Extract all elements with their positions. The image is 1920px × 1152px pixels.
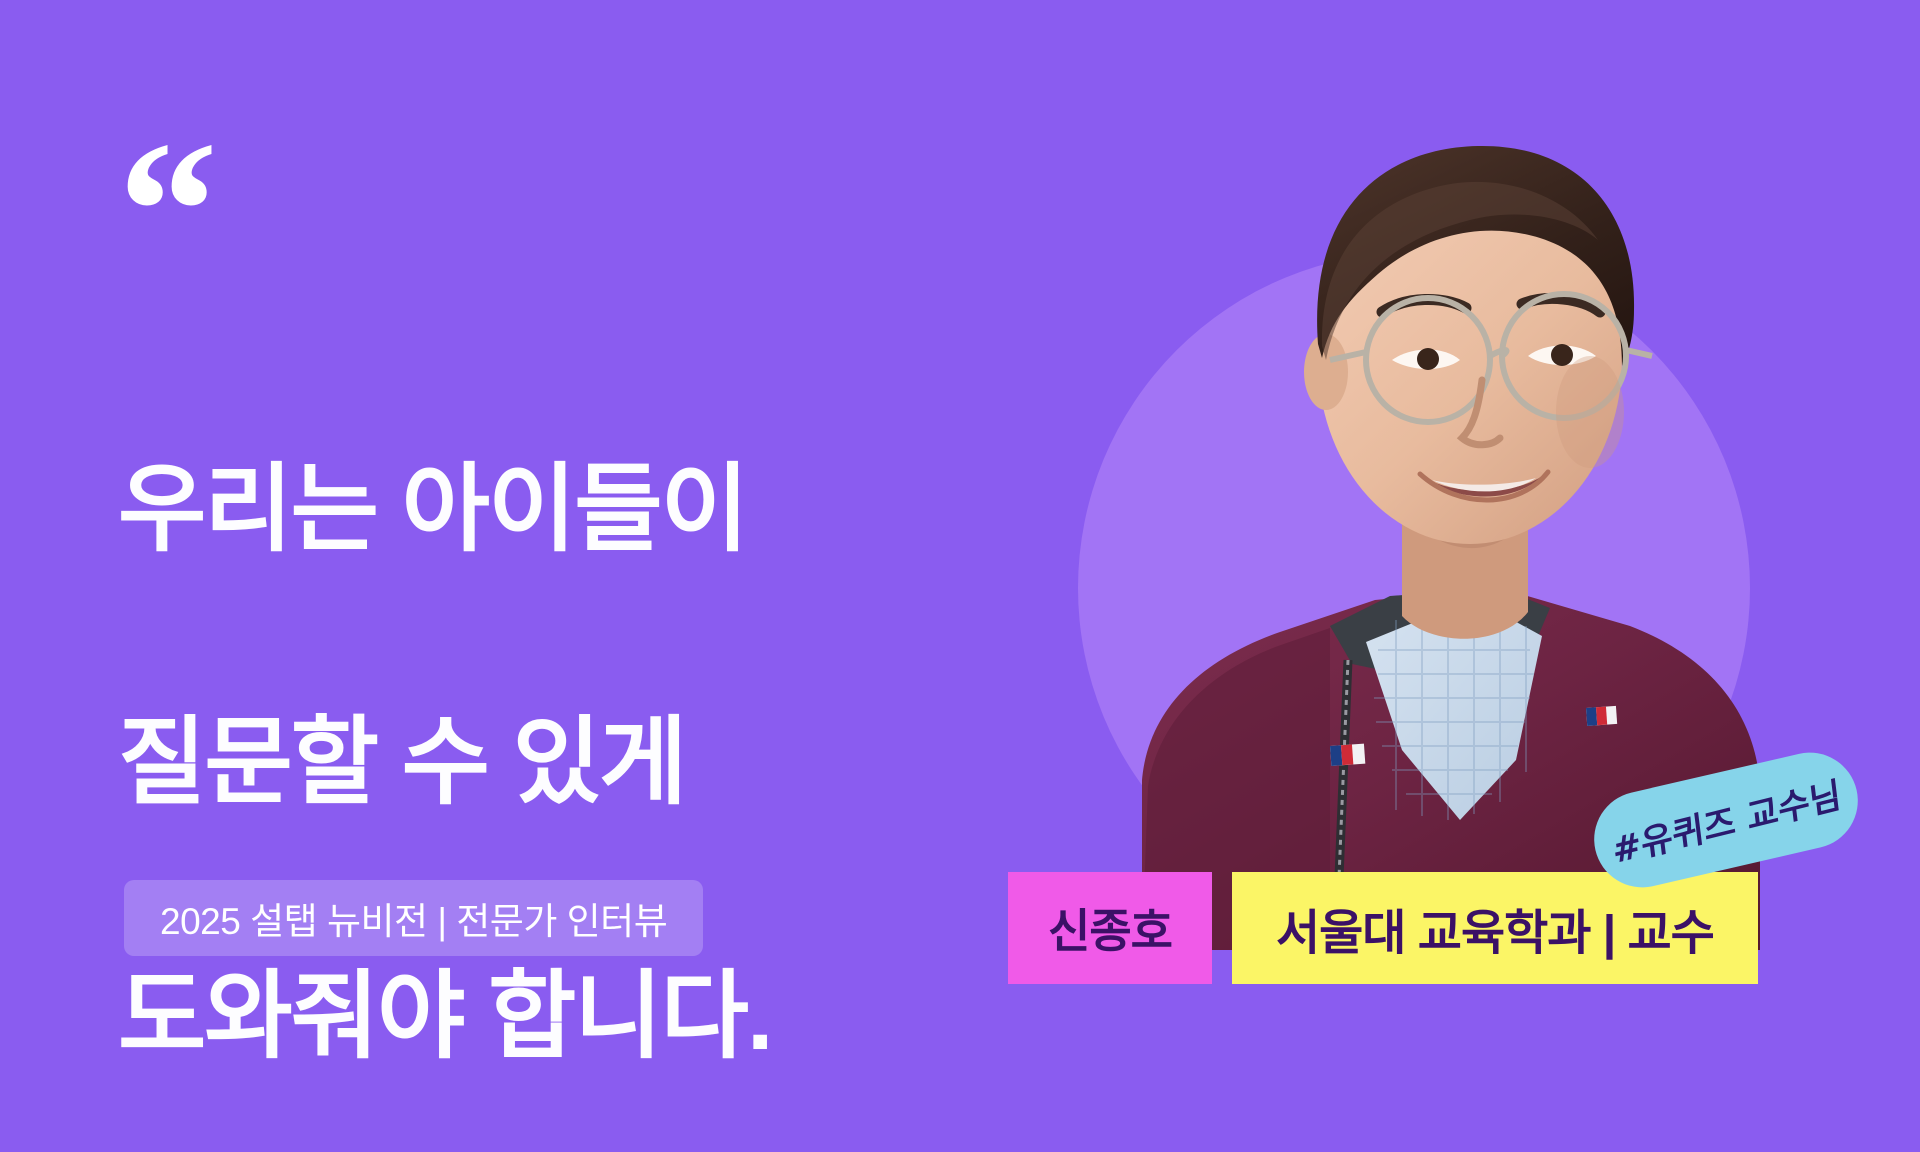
quote-card: “ 우리는 아이들이 질문할 수 있게 도와줘야 합니다. 2025 설탭 뉴비… <box>0 0 1920 1152</box>
quote-line-1: 우리는 아이들이 <box>118 447 938 574</box>
open-quote-icon: “ <box>118 112 212 312</box>
series-subtitle-badge: 2025 설탭 뉴비전 | 전문가 인터뷰 <box>124 880 703 956</box>
speaker-credentials: 신종호 서울대 교육학과 | 교수 <box>1008 872 1758 984</box>
quote-headline: 우리는 아이들이 질문할 수 있게 도와줘야 합니다. <box>118 320 938 1152</box>
speaker-title-badge: 서울대 교육학과 | 교수 <box>1232 872 1758 984</box>
quote-line-3: 도와줘야 합니다. <box>118 954 938 1081</box>
quote-line-2: 질문할 수 있게 <box>118 700 938 827</box>
speaker-name-badge: 신종호 <box>1008 872 1212 984</box>
